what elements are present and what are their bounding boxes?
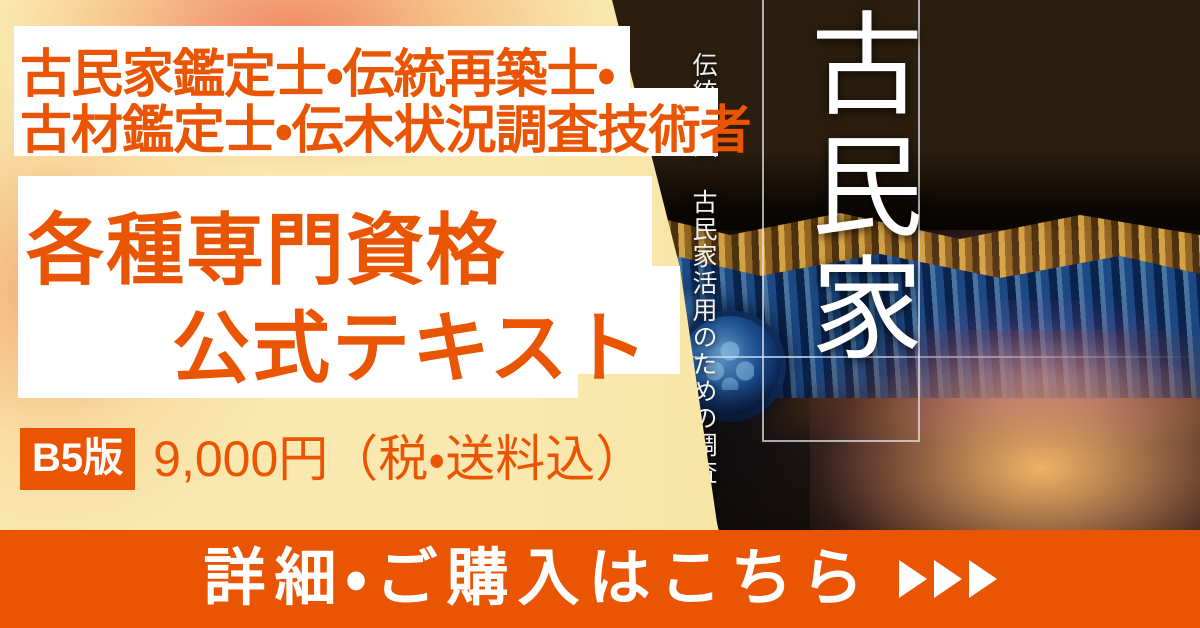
triangle-right-icon xyxy=(899,560,927,598)
promo-banner: 古民家 伝統構法 古民家活用のための調査と再生の 古民家鑑定士・伝統再築士・ 古… xyxy=(0,0,1200,628)
cover-title-text: 古民家 xyxy=(765,6,915,372)
cta-arrow-group xyxy=(899,560,997,598)
triangle-right-icon xyxy=(969,560,997,598)
subject-title-line2: 公式テキスト xyxy=(172,286,650,398)
qualification-headline-line2: 古材鑑定士・伝木状況調査技術者 xyxy=(20,88,751,163)
subject-title-line1: 各種専門資格 xyxy=(26,188,506,300)
cta-bar[interactable]: 詳細・ご購入はこちら xyxy=(0,530,1200,628)
triangle-right-icon xyxy=(934,560,962,598)
format-badge: B5版 xyxy=(20,428,135,490)
price-row: B5版 9,000円（税・送料込） xyxy=(20,428,645,490)
cta-label: 詳細・ご購入はこちら xyxy=(203,548,872,610)
price-amount: 9,000円（税・送料込） xyxy=(153,434,645,484)
